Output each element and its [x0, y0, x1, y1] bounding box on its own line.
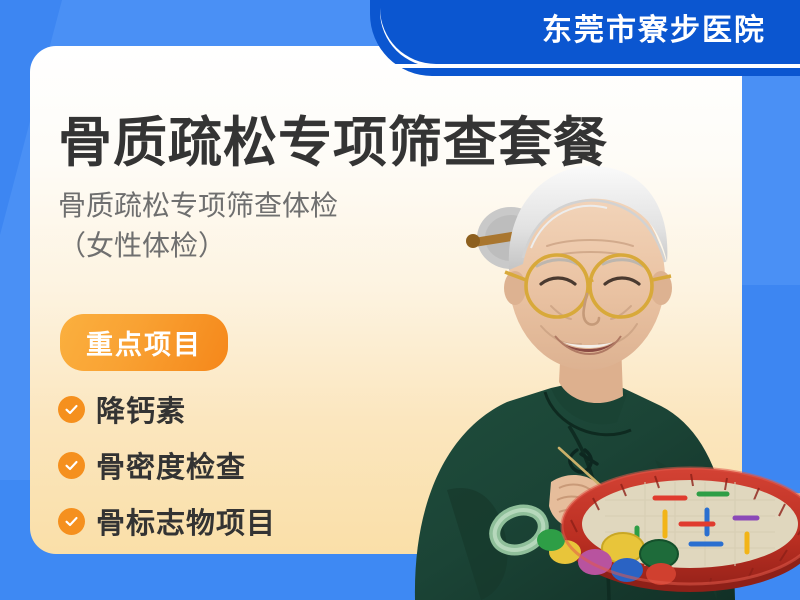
list-item-label: 骨标志物项目	[96, 500, 276, 542]
list-item: 降钙素	[58, 388, 276, 430]
hospital-name: 东莞市寮步医院	[542, 0, 766, 64]
header-ribbon-divider	[388, 64, 800, 68]
content-card: 骨质疏松专项筛查套餐 骨质疏松专项筛查体检 （女性体检） 重点项目 降钙素	[30, 46, 742, 554]
list-item: 骨密度检查	[58, 444, 276, 486]
subtitle-line-2: （女性体检）	[58, 226, 338, 266]
subtitle-line-1: 骨质疏松专项筛查体检	[58, 190, 338, 221]
check-circle-icon	[58, 396, 85, 423]
promo-poster: 骨质疏松专项筛查套餐 骨质疏松专项筛查体检 （女性体检） 重点项目 降钙素	[0, 0, 800, 600]
page-subtitle: 骨质疏松专项筛查体检 （女性体检）	[58, 186, 338, 266]
checklist: 降钙素 骨密度检查 骨标志物项目	[58, 388, 276, 554]
list-item: 骨标志物项目	[58, 500, 276, 542]
list-item-label: 降钙素	[96, 388, 186, 430]
check-circle-icon	[58, 508, 85, 535]
key-items-badge: 重点项目	[60, 314, 228, 371]
page-title: 骨质疏松专项筛查套餐	[58, 98, 608, 177]
check-circle-icon	[58, 452, 85, 479]
list-item-label: 骨密度检查	[96, 444, 246, 486]
